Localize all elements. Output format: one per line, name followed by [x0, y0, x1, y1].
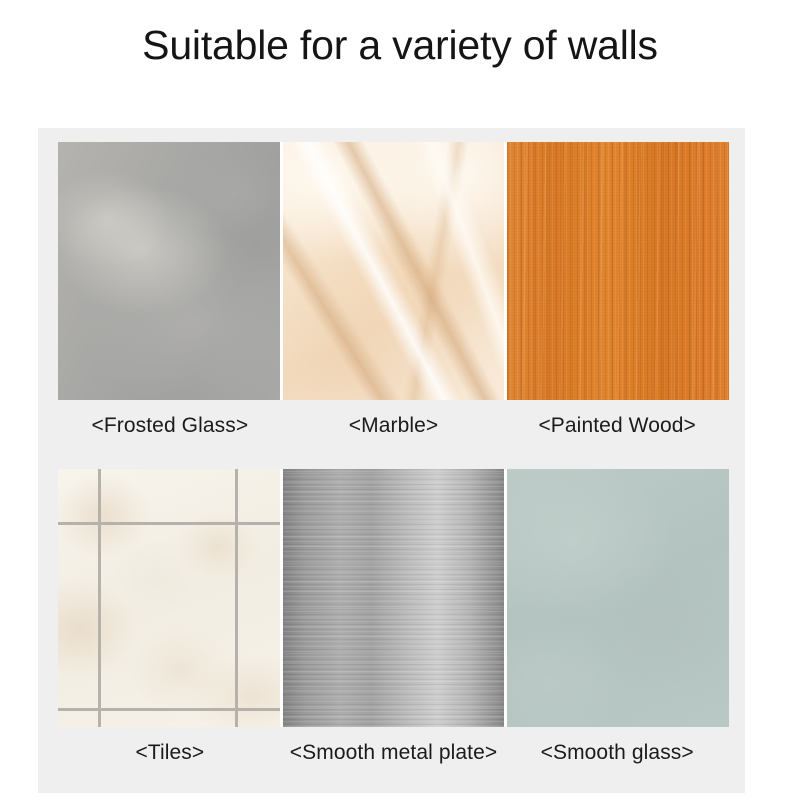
surface-swatch-smooth-metal-plate[interactable]: [283, 469, 505, 727]
surface-gallery-card: <Frosted Glass> <Marble> <Painted Wood> …: [38, 128, 745, 793]
product-feature-page: Suitable for a variety of walls <Frosted…: [0, 0, 800, 800]
surface-label-smooth-glass: <Smooth glass>: [505, 731, 729, 775]
surface-label-smooth-metal-plate: <Smooth metal plate>: [282, 731, 506, 775]
surface-label-frosted-glass: <Frosted Glass>: [58, 404, 282, 448]
surface-swatch-marble[interactable]: [283, 142, 505, 400]
tile-grout-line-vertical-right: [235, 469, 238, 727]
surface-swatch-strip-row-2: [58, 469, 729, 727]
surface-swatch-strip-row-1: [58, 142, 729, 400]
surface-label-tiles: <Tiles>: [58, 731, 282, 775]
tile-grout-line-horizontal-bottom: [58, 708, 280, 711]
surface-swatch-tiles[interactable]: [58, 469, 280, 727]
surface-label-strip-row-1: <Frosted Glass> <Marble> <Painted Wood>: [58, 404, 729, 448]
page-title: Suitable for a variety of walls: [0, 22, 800, 69]
tile-grout-line-horizontal-top: [58, 522, 280, 525]
surface-swatch-smooth-glass[interactable]: [507, 469, 729, 727]
tile-grout-line-vertical-left: [98, 469, 101, 727]
surface-swatch-frosted-glass[interactable]: [58, 142, 280, 400]
surface-label-strip-row-2: <Tiles> <Smooth metal plate> <Smooth gla…: [58, 731, 729, 775]
surface-swatch-painted-wood[interactable]: [507, 142, 729, 400]
surface-label-marble: <Marble>: [282, 404, 506, 448]
surface-label-painted-wood: <Painted Wood>: [505, 404, 729, 448]
